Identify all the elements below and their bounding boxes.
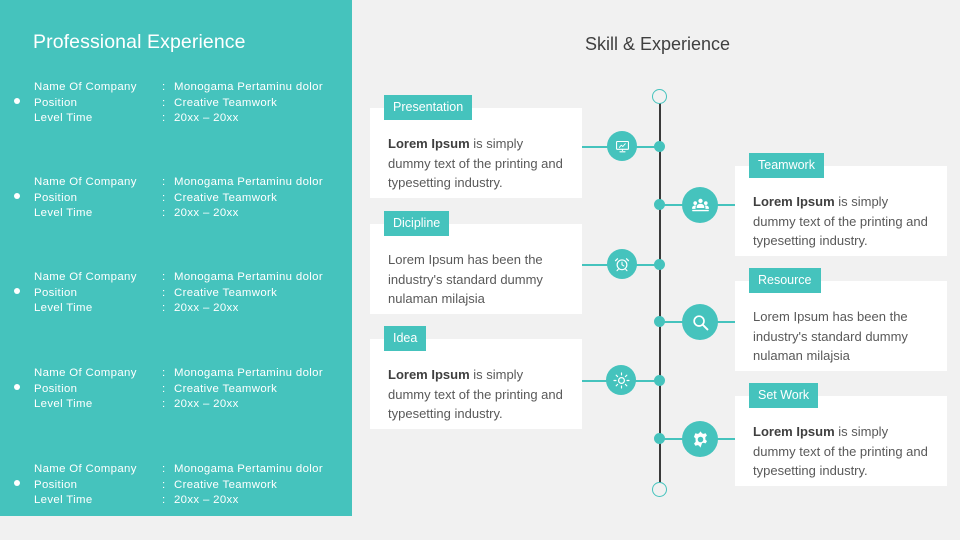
experience-rows: Name Of Company:Monogama Pertaminu dolor…: [34, 270, 323, 317]
colon: :: [162, 80, 174, 96]
card-body-bold: Lorem Ipsum: [753, 424, 835, 439]
bullet-icon: [14, 98, 20, 104]
company-row: Name Of Company:Monogama Pertaminu dolor: [34, 80, 323, 96]
position-label: Position: [34, 382, 162, 398]
level-time-value: 20xx – 20xx: [174, 207, 239, 219]
card-body-text: Lorem Ipsum is simply dummy text of the …: [753, 192, 933, 251]
level-time-row: Level Time:20xx – 20xx: [34, 111, 323, 127]
card-body-bold: Lorem Ipsum: [753, 194, 835, 209]
gear-settings-icon[interactable]: [682, 421, 718, 457]
experience-rows: Name Of Company:Monogama Pertaminu dolor…: [34, 80, 323, 127]
card-body-text: Lorem Ipsum is simply dummy text of the …: [388, 134, 568, 193]
position-value: Creative Teamwork: [174, 383, 277, 395]
card-tag-label: Dicipline: [384, 211, 449, 236]
card-tag-label: Idea: [384, 326, 426, 351]
colon: :: [162, 175, 174, 191]
level-time-row: Level Time:20xx – 20xx: [34, 397, 323, 413]
bullet-icon: [14, 384, 20, 390]
card-set-work[interactable]: Set Work Lorem Ipsum is simply dummy tex…: [735, 396, 947, 486]
card-tag-label: Presentation: [384, 95, 472, 120]
colon: :: [162, 382, 174, 398]
level-time-row: Level Time:20xx – 20xx: [34, 301, 323, 317]
company-label: Name Of Company: [34, 366, 162, 382]
level-time-value: 20xx – 20xx: [174, 494, 239, 506]
colon: :: [162, 397, 174, 413]
position-row: Position:Creative Teamwork: [34, 382, 323, 398]
company-label: Name Of Company: [34, 462, 162, 478]
colon: :: [162, 191, 174, 207]
section-title: Skill & Experience: [585, 34, 730, 55]
colon: :: [162, 270, 174, 286]
company-value: Monogama Pertaminu dolor: [174, 271, 323, 283]
timeline-endpoint-bottom-icon: [652, 482, 667, 497]
card-dicipline[interactable]: Dicipline Lorem Ipsum has been the indus…: [370, 224, 582, 314]
colon: :: [162, 111, 174, 127]
company-value: Monogama Pertaminu dolor: [174, 176, 323, 188]
experience-rows: Name Of Company:Monogama Pertaminu dolor…: [34, 462, 323, 509]
experience-rows: Name Of Company:Monogama Pertaminu dolor…: [34, 175, 323, 222]
colon: :: [162, 462, 174, 478]
company-row: Name Of Company:Monogama Pertaminu dolor: [34, 366, 323, 382]
alarm-clock-icon[interactable]: [607, 249, 637, 279]
card-body-text: Lorem Ipsum is simply dummy text of the …: [753, 422, 933, 481]
level-time-value: 20xx – 20xx: [174, 398, 239, 410]
card-body-text: Lorem Ipsum has been the industry's stan…: [753, 307, 933, 366]
company-label: Name Of Company: [34, 80, 162, 96]
position-value: Creative Teamwork: [174, 97, 277, 109]
company-row: Name Of Company:Monogama Pertaminu dolor: [34, 175, 323, 191]
position-value: Creative Teamwork: [174, 287, 277, 299]
company-label: Name Of Company: [34, 175, 162, 191]
card-resource[interactable]: Resource Lorem Ipsum has been the indust…: [735, 281, 947, 371]
magnifier-search-icon[interactable]: [682, 304, 718, 340]
colon: :: [162, 96, 174, 112]
position-value: Creative Teamwork: [174, 479, 277, 491]
position-row: Position:Creative Teamwork: [34, 478, 323, 494]
level-time-label: Level Time: [34, 206, 162, 222]
list-item[interactable]: Name Of Company:Monogama Pertaminu dolor…: [14, 270, 344, 316]
bullet-icon: [14, 288, 20, 294]
list-item[interactable]: Name Of Company:Monogama Pertaminu dolor…: [14, 366, 344, 412]
list-item[interactable]: Name Of Company:Monogama Pertaminu dolor…: [14, 175, 344, 221]
card-tag-label: Teamwork: [749, 153, 824, 178]
level-time-label: Level Time: [34, 493, 162, 509]
level-time-value: 20xx – 20xx: [174, 302, 239, 314]
position-row: Position:Creative Teamwork: [34, 286, 323, 302]
list-item[interactable]: Name Of Company:Monogama Pertaminu dolor…: [14, 462, 344, 508]
card-tag-label: Set Work: [749, 383, 818, 408]
company-label: Name Of Company: [34, 270, 162, 286]
colon: :: [162, 301, 174, 317]
card-body-rest: Lorem Ipsum has been the industry's stan…: [753, 309, 908, 363]
card-body-bold: Lorem Ipsum: [388, 367, 470, 382]
level-time-row: Level Time:20xx – 20xx: [34, 493, 323, 509]
position-label: Position: [34, 96, 162, 112]
card-presentation[interactable]: Presentation Lorem Ipsum is simply dummy…: [370, 108, 582, 198]
bullet-icon: [14, 193, 20, 199]
colon: :: [162, 366, 174, 382]
card-body-rest: Lorem Ipsum has been the industry's stan…: [388, 252, 543, 306]
slide-canvas: Professional Experience Name Of Company:…: [0, 0, 960, 540]
card-body-text: Lorem Ipsum has been the industry's stan…: [388, 250, 568, 309]
company-value: Monogama Pertaminu dolor: [174, 463, 323, 475]
colon: :: [162, 206, 174, 222]
level-time-row: Level Time:20xx – 20xx: [34, 206, 323, 222]
timeline-endpoint-top-icon: [652, 89, 667, 104]
card-teamwork[interactable]: Teamwork Lorem Ipsum is simply dummy tex…: [735, 166, 947, 256]
bullet-icon: [14, 480, 20, 486]
colon: :: [162, 493, 174, 509]
presentation-screen-icon[interactable]: [607, 131, 637, 161]
level-time-label: Level Time: [34, 397, 162, 413]
card-tag-label: Resource: [749, 268, 821, 293]
page-title: Professional Experience: [33, 31, 246, 54]
colon: :: [162, 478, 174, 494]
card-body-bold: Lorem Ipsum: [388, 136, 470, 151]
position-label: Position: [34, 191, 162, 207]
position-label: Position: [34, 478, 162, 494]
professional-experience-panel: Professional Experience Name Of Company:…: [0, 0, 352, 516]
experience-rows: Name Of Company:Monogama Pertaminu dolor…: [34, 366, 323, 413]
level-time-label: Level Time: [34, 301, 162, 317]
level-time-value: 20xx – 20xx: [174, 112, 239, 124]
sun-brightness-icon[interactable]: [606, 365, 636, 395]
company-row: Name Of Company:Monogama Pertaminu dolor: [34, 462, 323, 478]
position-label: Position: [34, 286, 162, 302]
company-value: Monogama Pertaminu dolor: [174, 81, 323, 93]
level-time-label: Level Time: [34, 111, 162, 127]
position-row: Position:Creative Teamwork: [34, 96, 323, 112]
list-item[interactable]: Name Of Company:Monogama Pertaminu dolor…: [14, 80, 344, 126]
position-row: Position:Creative Teamwork: [34, 191, 323, 207]
card-body-text: Lorem Ipsum is simply dummy text of the …: [388, 365, 568, 424]
company-value: Monogama Pertaminu dolor: [174, 367, 323, 379]
company-row: Name Of Company:Monogama Pertaminu dolor: [34, 270, 323, 286]
colon: :: [162, 286, 174, 302]
card-idea[interactable]: Idea Lorem Ipsum is simply dummy text of…: [370, 339, 582, 429]
timeline-spine: [659, 96, 661, 490]
team-group-icon[interactable]: [682, 187, 718, 223]
position-value: Creative Teamwork: [174, 192, 277, 204]
